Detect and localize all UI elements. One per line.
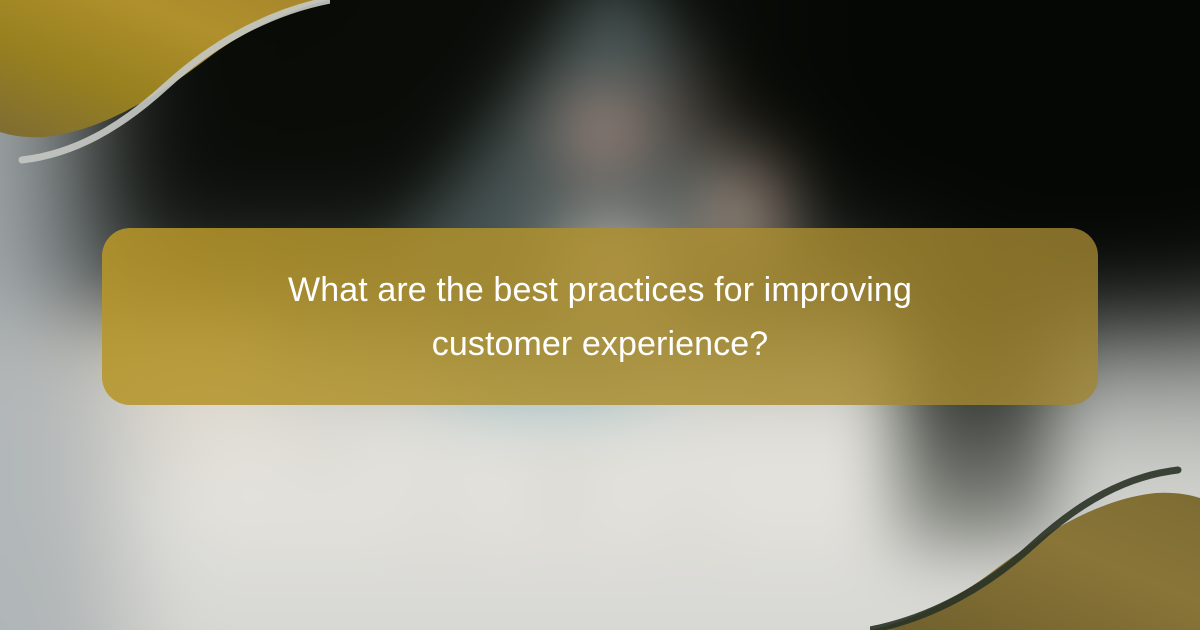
- question-text: What are the best practices for improvin…: [240, 263, 960, 371]
- question-plate: What are the best practices for improvin…: [102, 228, 1098, 405]
- social-card: What are the best practices for improvin…: [0, 0, 1200, 630]
